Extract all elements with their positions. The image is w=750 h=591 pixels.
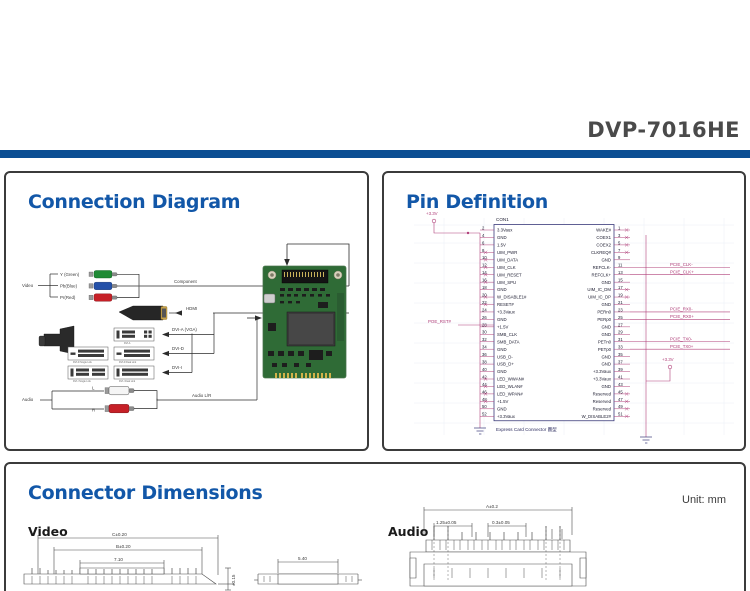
left-pin-name-30: SMB_CLK — [497, 332, 517, 337]
left-pin-number-52: 52 — [482, 412, 487, 417]
left-pin-number-40: 40 — [482, 367, 487, 372]
pin-definition-figure: CON1 3.3VauxGND1.5VUIM_PWRUIM_DATAUIM_CL… — [384, 173, 748, 453]
right-pin-name-47: Reserved — [593, 399, 612, 404]
right-pin-number-27: 27 — [618, 322, 623, 327]
svg-text:Y (Green): Y (Green) — [60, 272, 80, 277]
right-pin-name-43: GND — [601, 384, 611, 389]
left-pin-name-12: UIM_CLK — [497, 265, 516, 270]
left-pin-name-2: 3.3Vaux — [497, 228, 513, 233]
right-pin-number-21: 21 — [618, 300, 623, 305]
left-pin-name-4: GND — [497, 235, 507, 240]
left-pin-number-20: 20 — [482, 292, 487, 297]
right-pin-name-3: COEX1 — [596, 235, 611, 240]
right-pin-number-43: 43 — [618, 382, 623, 387]
right-pin-number-35: 35 — [618, 352, 623, 357]
right-pin-name-45: Reserved — [593, 392, 612, 397]
dvi-d-dual-footprint: DVI-D Dual Link — [114, 347, 154, 364]
right-pin-name-41: +3.3Vaux — [593, 377, 612, 382]
left-pin-number-30: 30 — [482, 330, 487, 335]
audio-rca-right — [105, 404, 134, 412]
right-pin-name-29: GND — [601, 332, 611, 337]
right-pin-name-39: +3.3Vaux — [593, 369, 612, 374]
signal-label-dvi-d: DVI-D — [172, 346, 184, 351]
left-pin-name-16: UIM_SPU — [497, 280, 516, 285]
left-pin-number-38: 38 — [482, 360, 487, 365]
right-pin-number-23: 23 — [618, 307, 623, 312]
dim-label-c: C±0.20 — [112, 532, 127, 537]
left-pin-number-2: 2 — [482, 225, 485, 230]
left-pin-number-18: 18 — [482, 285, 487, 290]
net-label-PCIE_TX0+: PCIE_TX0+ — [670, 344, 694, 349]
left-pin-number-22: 22 — [482, 300, 487, 305]
left-pin-name-26: GND — [497, 317, 507, 322]
right-pin-number-7: 7 — [618, 248, 621, 253]
supply-symbol-left: +3.3V — [426, 211, 480, 234]
right-pin-number-1: 1 — [618, 225, 621, 230]
svg-text:L: L — [92, 386, 95, 391]
net-label-poe-rst: POE_RST# — [428, 319, 451, 324]
supply-label-left: +3.3V — [426, 211, 438, 216]
dimension-drawings: C±0.20 B±0.20 7.10 ±0.15 — [6, 464, 748, 591]
right-pin-number-49: 49 — [618, 404, 623, 409]
right-pin-name-49: Reserved — [593, 406, 612, 411]
left-pin-number-14: 14 — [482, 270, 487, 275]
pin-definition-panel: Pin Definition CON1 3.3VauxGND1.5VUIM_ — [382, 171, 746, 451]
right-pin-number-51: 51 — [618, 412, 623, 417]
right-pin-number-25: 25 — [618, 315, 623, 320]
left-pin-number-12: 12 — [482, 263, 487, 268]
signal-label-hdmi: HDMI — [186, 306, 197, 311]
right-pin-number-17: 17 — [618, 285, 623, 290]
right-pin-name-15: GND — [601, 280, 611, 285]
svg-text:DVI-A: DVI-A — [124, 342, 131, 345]
connection-diagram-panel: Connection Diagram Video Y (Gre — [4, 171, 369, 451]
right-pin-name-17: UIM_IC_DM — [587, 287, 611, 292]
left-pin-number-42: 42 — [482, 374, 487, 379]
right-pin-number-29: 29 — [618, 330, 623, 335]
right-pin-name-35: GND — [601, 354, 611, 359]
ground-symbol-right — [640, 437, 652, 443]
right-pin-name-31: PETn0 — [598, 339, 612, 344]
svg-text:Pb(Blue): Pb(Blue) — [60, 284, 78, 289]
left-pin-name-14: UIM_RESET — [497, 272, 522, 277]
left-pin-number-4: 4 — [482, 233, 485, 238]
dim-label-b: B±0.20 — [116, 544, 131, 549]
right-pin-name-11: REFCLK- — [593, 265, 612, 270]
svg-text:R: R — [92, 408, 95, 413]
right-pin-number-11: 11 — [618, 263, 623, 268]
dim-label-540: 5.40 — [298, 556, 307, 561]
capture-card-board-graphic — [263, 266, 346, 378]
dim-label-height: ±0.15 — [231, 574, 236, 586]
signal-label-audio-lr: Audio L/R — [192, 393, 211, 398]
right-pin-number-45: 45 — [618, 389, 623, 394]
right-pin-number-19: 19 — [618, 292, 623, 297]
datasheet-page: DVP-7016HE Connection Diagram Video — [0, 0, 750, 591]
right-pin-number-15: 15 — [618, 278, 623, 283]
left-pin-name-34: GND — [497, 347, 507, 352]
left-pin-name-36: USB_D- — [497, 354, 513, 359]
left-pin-number-48: 48 — [482, 397, 487, 402]
left-pin-name-46: LED_WPAN# — [497, 392, 523, 397]
signal-label-component: Component — [174, 279, 197, 284]
dvi-d-single-footprint: DVI-D Single Link — [68, 347, 108, 364]
left-pin-name-44: LED_WLAN# — [497, 384, 523, 389]
right-pin-number-41: 41 — [618, 374, 623, 379]
component-lead-pr: Pr(Red) — [60, 294, 117, 302]
right-pin-name-37: GND — [601, 362, 611, 367]
right-pin-number-37: 37 — [618, 360, 623, 365]
left-pin-number-24: 24 — [482, 307, 487, 312]
left-pin-name-20: W_DISABLE1# — [497, 295, 527, 300]
left-pin-number-16: 16 — [482, 278, 487, 283]
left-pin-number-44: 44 — [482, 382, 487, 387]
right-pin-name-9: GND — [601, 257, 611, 262]
net-label-PCIE_RX0-: PCIE_RX0- — [670, 307, 693, 312]
right-pin-name-51: W_DISABLE2# — [582, 414, 612, 419]
signal-label-dvi-a: DVI-A (VGA) — [172, 327, 197, 332]
net-label-PCIE_TX0-: PCIE_TX0- — [670, 336, 693, 341]
svg-text:DVI-D Dual Link: DVI-D Dual Link — [119, 361, 137, 364]
right-pin-name-33: PETp0 — [598, 347, 612, 352]
left-pin-number-26: 26 — [482, 315, 487, 320]
right-pin-number-9: 9 — [618, 255, 621, 260]
left-pin-name-18: GND — [497, 287, 507, 292]
left-pin-name-38: USB_D+ — [497, 362, 514, 367]
dvi-a-footprint: DVI-A — [114, 328, 154, 345]
right-pin-number-47: 47 — [618, 397, 623, 402]
dim-label-a: A±0.2 — [486, 504, 498, 509]
svg-text:Pr(Red): Pr(Red) — [60, 295, 76, 300]
right-pin-number-39: 39 — [618, 367, 623, 372]
page-title: DVP-7016HE — [587, 118, 740, 142]
left-pin-name-8: UIM_PWR — [497, 250, 517, 255]
video-group-label: Video — [22, 283, 34, 288]
left-pin-number-36: 36 — [482, 352, 487, 357]
connector-dimensions-panel: Connector Dimensions Unit: mm Video Audi… — [4, 462, 746, 591]
svg-text:DVI-D Single Link: DVI-D Single Link — [73, 361, 93, 364]
connection-diagram-figure: Video Y (Green) Pb(Blue) — [6, 173, 371, 453]
component-lead-y: Y (Green) — [60, 271, 117, 279]
left-pin-name-50: GND — [497, 406, 507, 411]
left-pin-number-32: 32 — [482, 337, 487, 342]
right-pin-name-23: PERn0 — [597, 310, 611, 315]
left-pin-name-28: +1.5V — [497, 324, 508, 329]
left-pin-number-10: 10 — [482, 255, 487, 260]
pin-diagram-caption: Express Card Connector 圖型 — [496, 426, 557, 433]
left-pin-name-52: +3.3Vaux — [497, 414, 516, 419]
audio-connector-drawing — [410, 507, 586, 586]
audio-group-label: Audio — [22, 397, 34, 402]
svg-text:DVI-I Single Link: DVI-I Single Link — [73, 380, 92, 383]
left-pin-name-48: +1.5V — [497, 399, 508, 404]
right-pin-number-33: 33 — [618, 345, 623, 350]
connector-ref-label: CON1 — [496, 217, 509, 222]
right-pin-name-5: COEX2 — [596, 243, 611, 248]
left-pin-number-46: 46 — [482, 389, 487, 394]
svg-text:DVI-I Dual Link: DVI-I Dual Link — [119, 380, 136, 383]
audio-rca-left — [105, 386, 134, 394]
left-pin-name-22: RESET# — [497, 302, 514, 307]
left-pin-number-50: 50 — [482, 404, 487, 409]
right-pin-name-25: PERp0 — [597, 317, 611, 322]
supply-symbol-right: +3.3V — [646, 357, 674, 381]
hdmi-connector-graphic — [119, 306, 167, 320]
signal-label-dvi-i: DVI-I — [172, 365, 182, 370]
dim-label-125: 1.25±0.05 — [436, 520, 457, 525]
net-label-PCIE_CLK-: PCIE_CLK- — [670, 262, 693, 267]
right-pin-name-19: UIM_IC_DP — [588, 295, 611, 300]
left-pin-name-32: SMB_DATA — [497, 339, 520, 344]
left-pin-name-40: GND — [497, 369, 507, 374]
left-pin-name-42: LED_WWAN# — [497, 377, 525, 382]
right-pin-number-31: 31 — [618, 337, 623, 342]
video-connector-side-drawing — [254, 559, 362, 584]
dvi-i-dual-footprint: DVI-I Dual Link — [114, 366, 154, 383]
header-divider-bar — [0, 150, 750, 158]
right-pin-number-13: 13 — [618, 270, 623, 275]
net-label-PCIE_RX0+: PCIE_RX0+ — [670, 314, 694, 319]
right-pin-name-27: GND — [601, 324, 611, 329]
left-pin-number-8: 8 — [482, 248, 485, 253]
right-pin-name-21: GND — [601, 302, 611, 307]
component-lead-pb: Pb(Blue) — [60, 282, 117, 290]
right-pin-name-1: WAKE# — [596, 228, 611, 233]
right-pin-name-7: CLKREQ# — [591, 250, 612, 255]
left-pin-number-34: 34 — [482, 345, 487, 350]
right-pin-number-3: 3 — [618, 233, 621, 238]
left-pin-name-24: +3.3Vaux — [497, 310, 516, 315]
supply-label-right: +3.3V — [662, 357, 674, 362]
dim-label-710: 7.10 — [114, 557, 123, 562]
dvi-i-single-footprint: DVI-I Single Link — [68, 366, 108, 383]
right-pin-name-13: REFCLK+ — [592, 272, 612, 277]
net-label-PCIE_CLK+: PCIE_CLK+ — [670, 269, 694, 274]
dim-label-03: 0.3±0.05 — [492, 520, 510, 525]
left-pin-name-6: 1.5V — [497, 243, 506, 248]
left-pin-name-10: UIM_DATA — [497, 257, 518, 262]
